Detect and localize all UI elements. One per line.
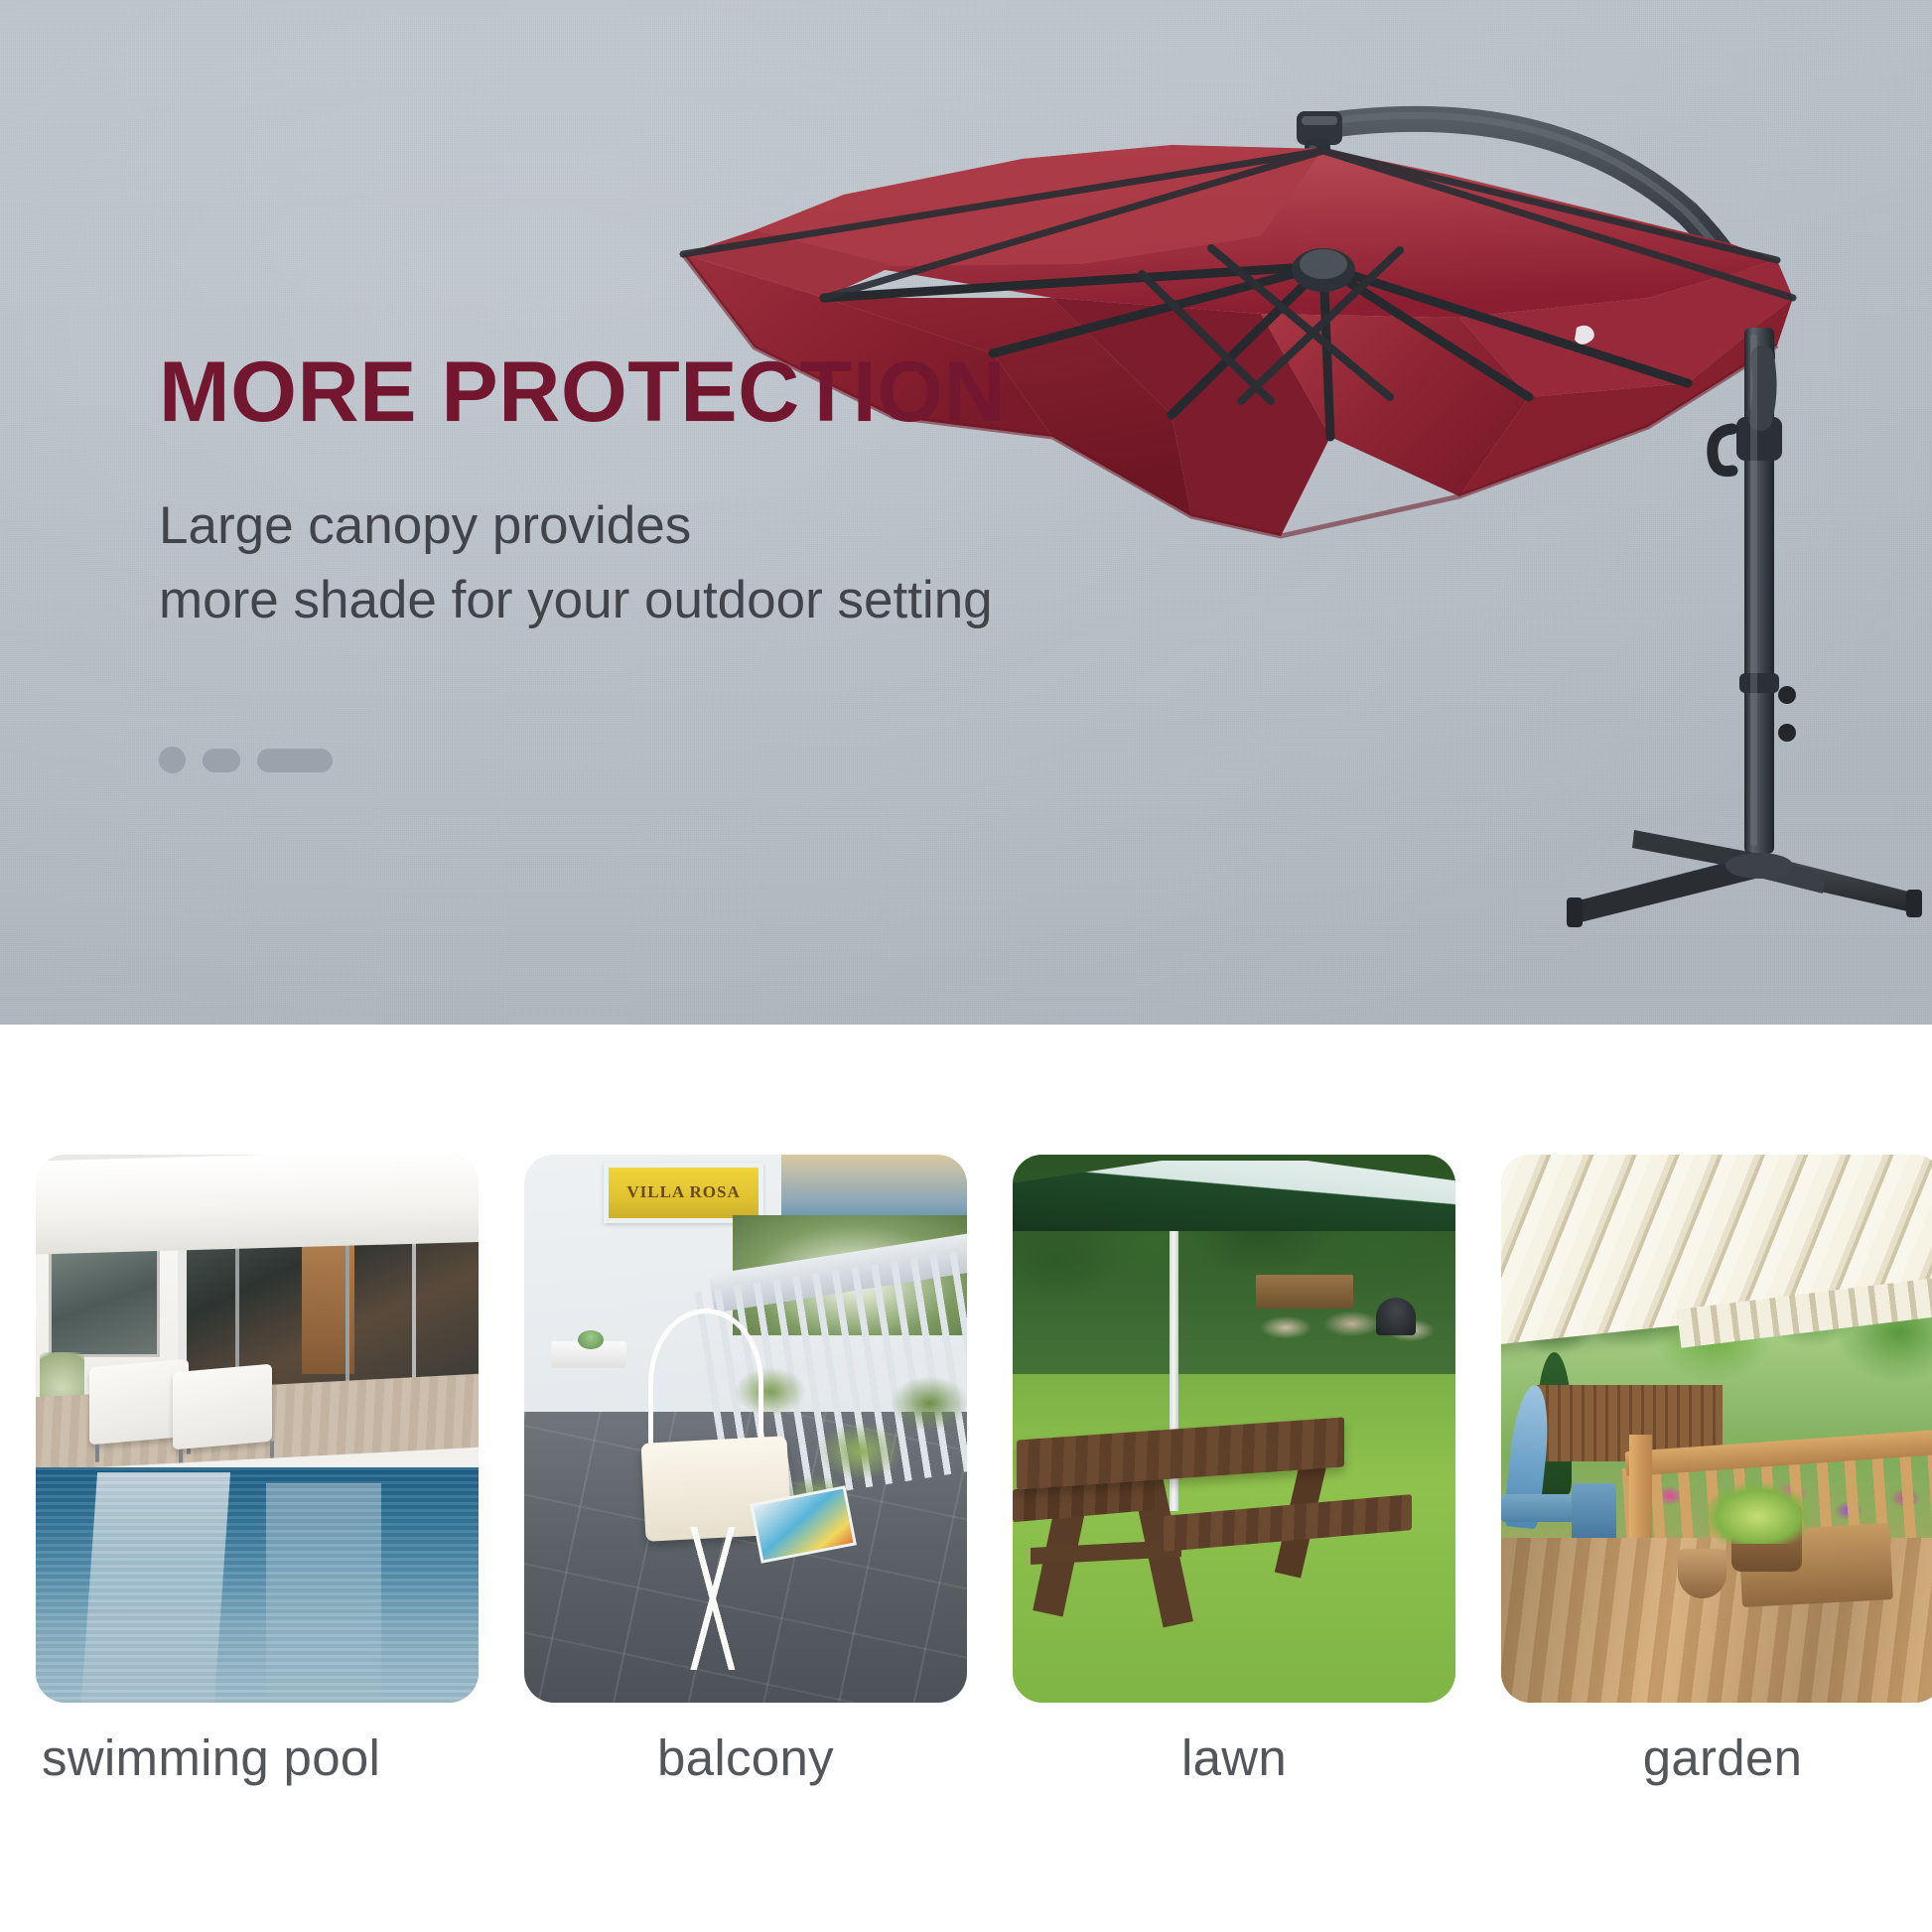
decorative-pill-row (159, 747, 333, 773)
gallery-card-lawn[interactable]: lawn (1013, 1155, 1455, 1786)
thumbnail-balcony[interactable]: VILLA ROSA (524, 1155, 967, 1703)
gallery-card-row: swimming pool VILLA ROSA (36, 1155, 1896, 1786)
marketing-banner: MORE PROTECTION Large canopy provides mo… (0, 0, 1932, 1932)
thumbnail-swimming-pool[interactable] (36, 1155, 479, 1703)
hero-subcopy-line-2: more shade for your outdoor setting (159, 563, 1152, 637)
hero-subcopy: Large canopy provides more shade for you… (159, 488, 1152, 638)
villa-rosa-sign-text: VILLA ROSA (609, 1182, 759, 1202)
caption-balcony: balcony (524, 1730, 967, 1786)
gallery-card-garden[interactable]: garden (1501, 1155, 1932, 1786)
gallery-card-swimming-pool[interactable]: swimming pool (36, 1155, 479, 1786)
pill-short-icon (203, 749, 240, 772)
thumbnail-garden[interactable] (1501, 1155, 1932, 1703)
hero-panel: MORE PROTECTION Large canopy provides mo… (0, 0, 1932, 1025)
photo-lawn (1013, 1155, 1455, 1703)
caption-swimming-pool: swimming pool (36, 1730, 479, 1786)
usage-gallery: swimming pool VILLA ROSA (0, 1025, 1932, 1932)
pill-long-icon (257, 749, 333, 772)
photo-swimming-pool (36, 1155, 479, 1703)
caption-garden: garden (1501, 1730, 1932, 1786)
gallery-card-balcony[interactable]: VILLA ROSA balco (524, 1155, 967, 1786)
hero-headline: MORE PROTECTION (159, 349, 1152, 435)
caption-lawn: lawn (1013, 1730, 1455, 1786)
pill-dot-icon (159, 747, 186, 773)
photo-garden (1501, 1155, 1932, 1703)
photo-balcony: VILLA ROSA (524, 1155, 967, 1703)
hero-subcopy-line-1: Large canopy provides (159, 488, 1152, 563)
hero-copy-block: MORE PROTECTION Large canopy provides mo… (159, 349, 1152, 638)
thumbnail-lawn[interactable] (1013, 1155, 1455, 1703)
